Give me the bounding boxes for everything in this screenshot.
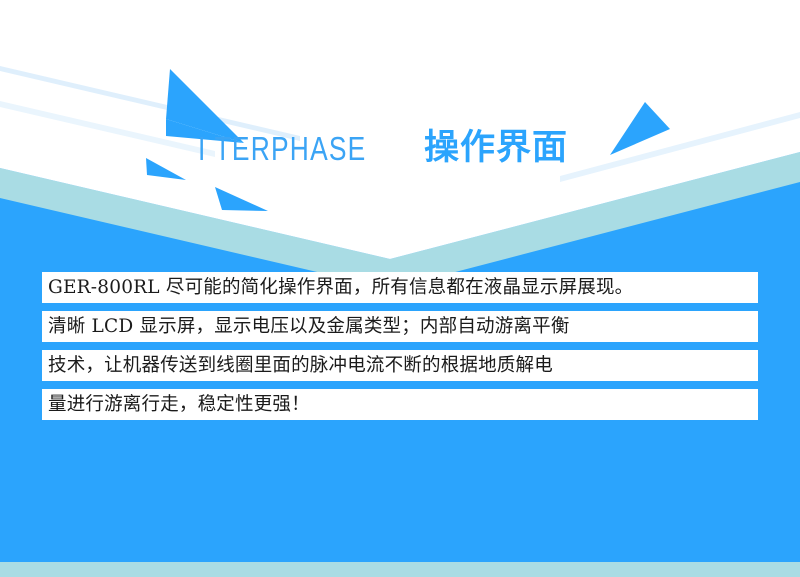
product-detail-banner: I TERPHASE 操作界面 GER-800RL 尽可能的简化操作界面，所有信… [0, 0, 800, 577]
description-line: 技术，让机器传送到线圈里面的脉冲电流不断的根据地质解电 [42, 350, 758, 381]
description-line: 清晰 LCD 显示屏，显示电压以及金属类型；内部自动游离平衡 [42, 311, 758, 342]
footer-cyan-band [0, 562, 800, 577]
description-line: 量进行游离行走，稳定性更强！ [42, 389, 758, 420]
description-line: GER-800RL 尽可能的简化操作界面，所有信息都在液晶显示屏展现。 [42, 272, 758, 303]
description-block: GER-800RL 尽可能的简化操作界面，所有信息都在液晶显示屏展现。 清晰 L… [42, 272, 758, 420]
